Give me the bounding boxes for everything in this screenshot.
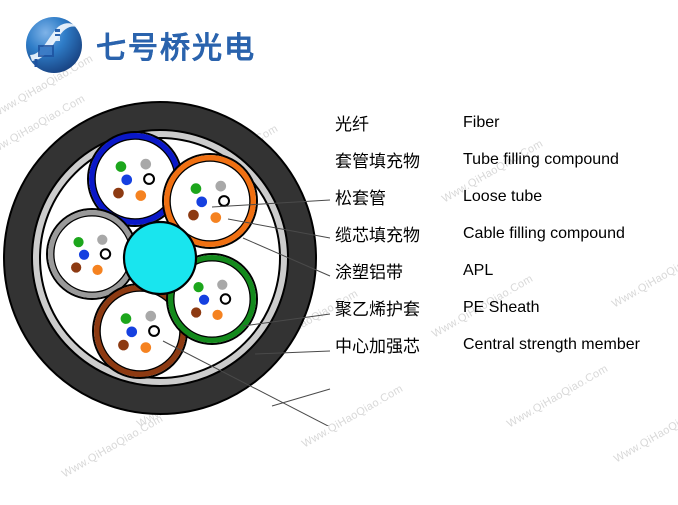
fiber-blue xyxy=(197,197,207,207)
legend-row: 中心加强芯Central strength member xyxy=(335,326,675,363)
fiber-green xyxy=(74,237,83,246)
legend-label-en: Fiber xyxy=(463,114,499,132)
fiber-white xyxy=(101,249,110,258)
legend-label-cn: 聚乙烯护套 xyxy=(335,295,463,320)
fiber-white xyxy=(219,196,229,206)
legend-label-cn: 松套管 xyxy=(335,184,463,209)
fiber-brown xyxy=(191,308,200,317)
fiber-green xyxy=(121,314,131,324)
fiber-orange xyxy=(213,310,222,319)
fiber-blue xyxy=(122,175,132,185)
legend-label-cn: 中心加强芯 xyxy=(335,332,463,357)
leader-line xyxy=(272,389,330,406)
legend-label-en: Tube filling compound xyxy=(463,151,619,169)
fiber-green xyxy=(194,282,203,291)
fiber-brown xyxy=(71,263,80,272)
brand-header: 七号桥光电 xyxy=(24,14,256,76)
fiber-orange xyxy=(93,265,102,274)
fiber-gray xyxy=(216,181,226,191)
fiber-green xyxy=(191,184,201,194)
legend-row: 聚乙烯护套PE Sheath xyxy=(335,289,675,326)
legend-label-cn: 套管填充物 xyxy=(335,147,463,172)
fiber-green xyxy=(116,162,126,172)
fiber-orange xyxy=(211,213,221,223)
fiber-gray xyxy=(141,159,151,169)
fiber-orange xyxy=(141,343,151,353)
legend-label-cn: 涂塑铝带 xyxy=(335,258,463,283)
legend-label-en: Cable filling compound xyxy=(463,225,625,243)
legend-row: 光纤Fiber xyxy=(335,104,675,141)
legend-row: 松套管Loose tube xyxy=(335,178,675,215)
fiber-white xyxy=(221,294,230,303)
fiber-blue xyxy=(127,327,137,337)
legend-label-en: APL xyxy=(463,262,493,280)
fiber-brown xyxy=(189,210,199,220)
bridge-globe-logo-icon xyxy=(24,15,84,75)
legend-label-en: PE Sheath xyxy=(463,299,540,317)
fiber-white xyxy=(144,174,154,184)
brand-name: 七号桥光电 xyxy=(96,23,256,67)
legend-label-en: Central strength member xyxy=(463,336,640,354)
legend-label-cn: 光纤 xyxy=(335,110,463,135)
fiber-gray xyxy=(98,235,107,244)
fiber-orange xyxy=(136,191,146,201)
legend-row: 套管填充物Tube filling compound xyxy=(335,141,675,178)
fiber-blue xyxy=(199,295,208,304)
legend-row: 涂塑铝带APL xyxy=(335,252,675,289)
fiber-gray xyxy=(218,280,227,289)
legend-label-en: Loose tube xyxy=(463,188,542,206)
fiber-brown xyxy=(114,188,124,198)
legend-list: 光纤Fiber套管填充物Tube filling compound松套管Loos… xyxy=(335,104,675,363)
legend-row: 缆芯填充物Cable filling compound xyxy=(335,215,675,252)
page-root: Www.QiHaoQiao.ComWww.QiHaoQiao.ComWww.Qi… xyxy=(0,0,678,505)
legend-label-cn: 缆芯填充物 xyxy=(335,221,463,246)
fiber-blue xyxy=(79,250,88,259)
fiber-brown xyxy=(119,340,129,350)
fiber-gray xyxy=(146,311,156,321)
fiber-white xyxy=(149,326,159,336)
central-strength-member xyxy=(124,222,196,294)
